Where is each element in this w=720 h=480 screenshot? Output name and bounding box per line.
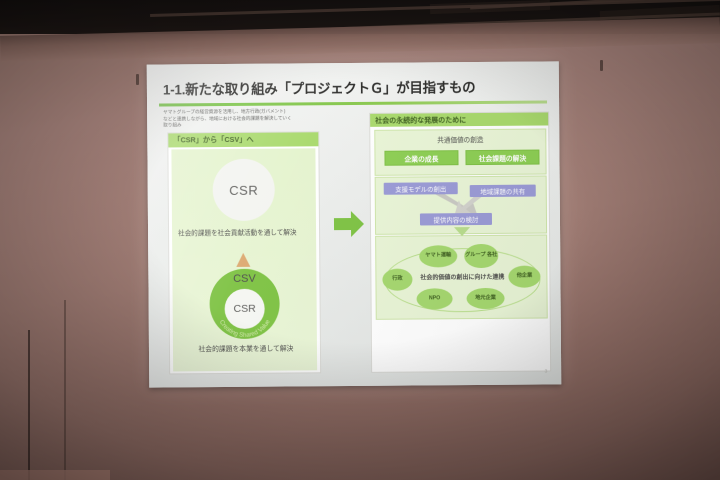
floor-strip [0, 470, 110, 480]
left-panel-body: CSR 社会的課題を社会貢献活動を通して解決 Creating Shared V… [171, 148, 317, 371]
wall-edge-line [64, 300, 66, 480]
network-diagram: 行政 ヤマト運輸 グループ 各社 他企業 NPO 地元企業 社会的価値の創出に向… [376, 235, 547, 318]
common-value-box: 共通価値の創造 企業の成長 社会課題の解決 [374, 128, 546, 175]
csv-ring: Creating Shared Value CSV CSR [209, 269, 280, 340]
intro-text: ヤマトグループの経営資源を活用し、地方行政(ガバメント) などと連携しながら、地… [163, 108, 363, 130]
right-panel-header: 社会の永続的な発展のために [370, 112, 548, 126]
slide: 1-1.新たな取り組み「プロジェクトＧ」が目指すもの ヤマトグループの経営資源を… [155, 69, 553, 379]
up-arrow-icon [236, 253, 250, 267]
right-arrow-icon [334, 211, 364, 237]
left-panel-header: 「CSR」から「CSV」へ [168, 132, 318, 147]
projection-screen: 1-1.新たな取り組み「プロジェクトＧ」が目指すもの ヤマトグループの経営資源を… [147, 61, 562, 387]
title-underline [159, 100, 547, 106]
right-panel: 社会の永続的な発展のために 共通価値の創造 企業の成長 社会課題の解決 支援モデ… [369, 111, 551, 372]
pill-corporate-growth: 企業の成長 [384, 150, 458, 166]
csr-circle: CSR [212, 159, 274, 221]
box-regional-issue: 地域課題の共有 [470, 185, 536, 198]
left-panel: 「CSR」から「CSV」へ CSR 社会的課題を社会貢献活動を通して解決 Cre… [167, 131, 321, 374]
wall-edge-line [28, 330, 30, 480]
network-center-text: 社会的価値の創出に向けた連携 [396, 272, 528, 282]
box-service-review: 提供内容の検討 [420, 213, 492, 226]
network-box: 行政 ヤマト運輸 グループ 各社 他企業 NPO 地元企業 社会的価値の創出に向… [375, 234, 548, 319]
model-box: 支援モデルの創出 地域課題の共有 提供内容の検討 [375, 175, 547, 234]
down-arrow-icon [454, 227, 470, 236]
node-group-companies: グループ 各社 [464, 244, 498, 268]
csr-caption: 社会的課題を社会貢献活動を通して解決 [178, 228, 312, 239]
svg-text:Creating Shared Value: Creating Shared Value [218, 318, 272, 339]
pill-social-solution: 社会課題の解決 [465, 150, 539, 166]
intro-line: 取り組み [163, 121, 363, 129]
box-support-model: 支援モデルの創出 [384, 182, 458, 195]
ledge-hook [136, 74, 139, 85]
common-value-subtitle: 共通価値の創造 [375, 133, 545, 144]
page-number: 3 [545, 368, 548, 373]
slide-title: 1-1.新たな取り組み「プロジェクトＧ」が目指すもの [163, 75, 547, 98]
csv-caption: 社会的課題を本業を通して解決 [179, 344, 313, 355]
csv-label: CSV [209, 273, 279, 286]
ledge-hook [600, 60, 603, 71]
